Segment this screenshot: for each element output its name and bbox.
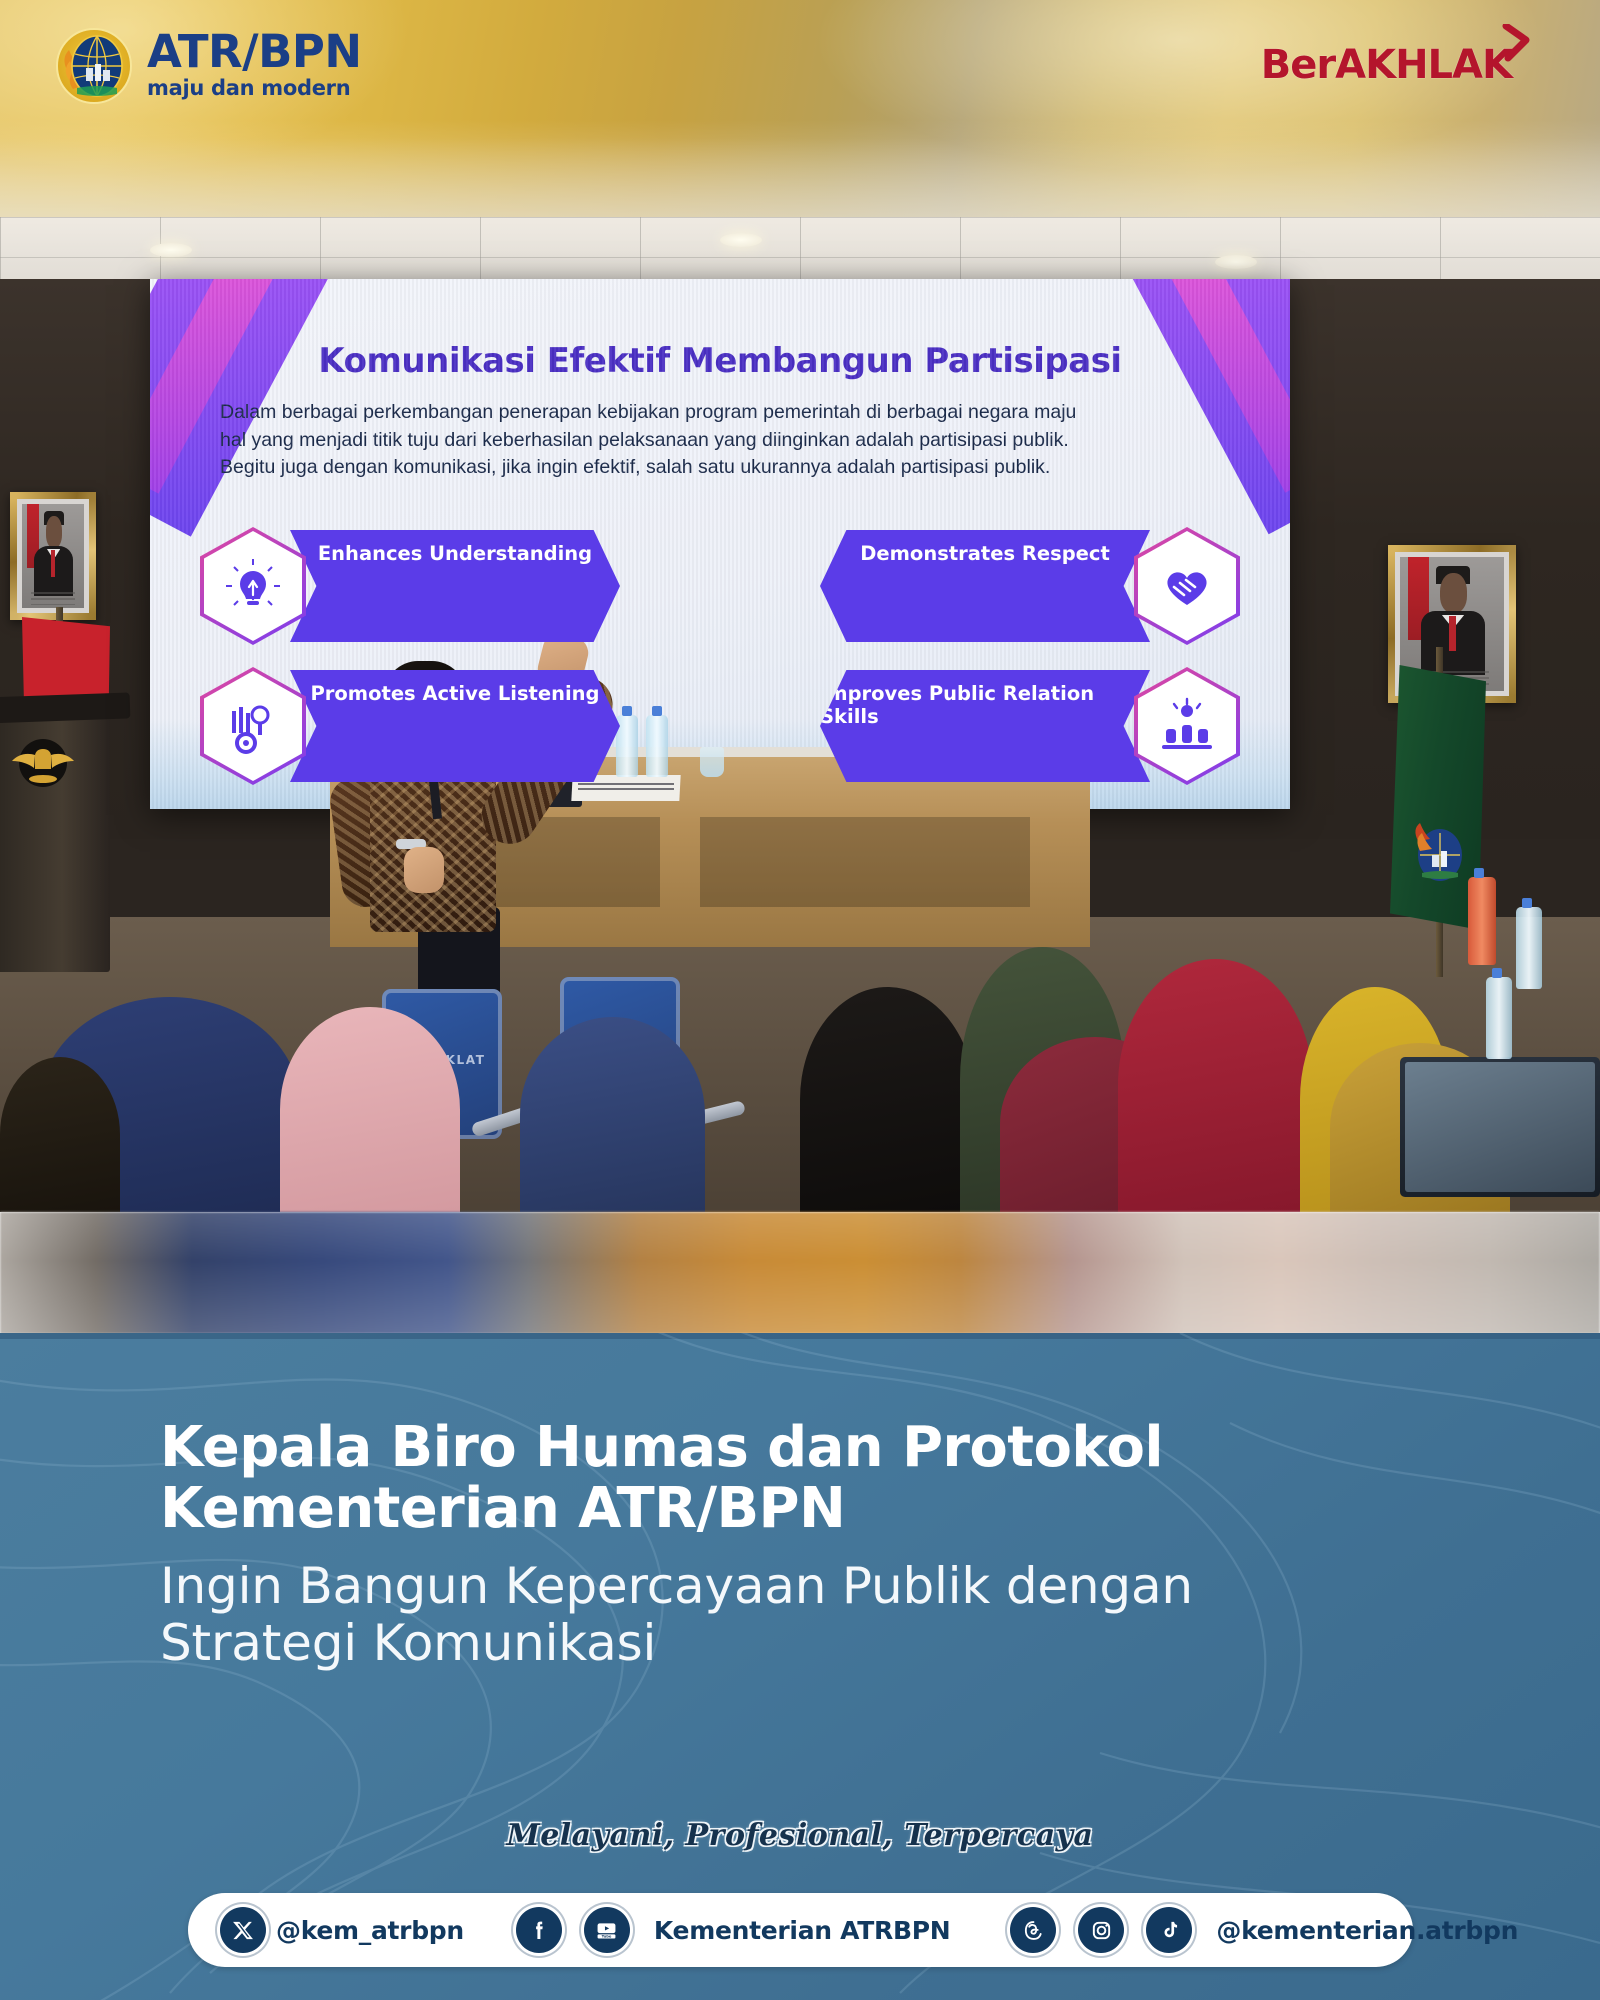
president-portrait-frame — [10, 492, 96, 620]
audience-speaker-icon — [1134, 667, 1240, 785]
thermos-bottle — [1468, 877, 1496, 965]
water-bottle — [1516, 907, 1542, 989]
ceiling-light-icon — [1215, 255, 1257, 269]
youtube-handle[interactable]: Kementerian ATRBPN — [654, 1916, 950, 1945]
social-group-x[interactable]: @kem_atrbpn — [220, 1907, 464, 1953]
berakhlak-swoosh-icon — [1500, 24, 1530, 70]
social-group-facebook[interactable] — [516, 1907, 572, 1953]
page-title-line: Kementerian ATR/BPN — [160, 1478, 1490, 1539]
slide-body-line: Dalam berbagai perkembangan penerapan ke… — [220, 399, 1220, 427]
slide-hex-item: Promotes Active Listening — [200, 667, 620, 785]
social-footer-bar: @kem_atrbpn Tube Kementerian ATRBPN — [188, 1893, 1413, 1967]
brand-title: ATR/BPN — [147, 29, 362, 74]
slide-body-line: Begitu juga dengan komunikasi, jika ingi… — [220, 454, 1220, 482]
x-handle[interactable]: @kem_atrbpn — [276, 1916, 464, 1945]
audience-person — [0, 1057, 120, 1212]
berakhlak-lockup: BerAKHLAK — [1261, 42, 1530, 88]
ceiling-light-icon — [720, 233, 762, 247]
slide-hex-label: Enhances Understanding — [290, 530, 620, 642]
social-group-youtube[interactable]: Tube Kementerian ATRBPN — [584, 1907, 950, 1953]
slide-hex-item: Enhances Understanding — [200, 527, 620, 645]
water-bottle — [616, 715, 638, 777]
svg-text:Tube: Tube — [602, 1934, 612, 1938]
brand-subtitle: maju dan modern — [147, 78, 362, 99]
tagline: Melayani, Profesional, Terpercaya — [0, 1818, 1600, 1853]
handshake-heart-icon — [1134, 527, 1240, 645]
audience-person — [1118, 959, 1313, 1212]
page-subtitle: Ingin Bangun Kepercayaan Publik dengan S… — [160, 1558, 1520, 1672]
page-title: Kepala Biro Humas dan Protokol Kementeri… — [160, 1417, 1490, 1539]
tiktok-handle[interactable]: @kementerian.atrbpn — [1216, 1916, 1518, 1945]
lightbulb-idea-icon — [200, 527, 306, 645]
social-group-tiktok[interactable]: @kementerian.atrbpn — [1146, 1907, 1518, 1953]
ceiling-light-icon — [150, 243, 192, 257]
page-subtitle-line: Strategi Komunikasi — [160, 1615, 1520, 1672]
audience-person — [520, 1017, 705, 1212]
speaker-left-hand — [404, 847, 444, 893]
water-bottle — [646, 715, 668, 777]
page-title-line: Kepala Biro Humas dan Protokol — [160, 1417, 1490, 1478]
slide-hex-label: Promotes Active Listening — [290, 670, 620, 782]
page-subtitle-line: Ingin Bangun Kepercayaan Publik dengan — [160, 1558, 1520, 1615]
water-bottle — [1486, 977, 1512, 1059]
tools-gear-icon — [200, 667, 306, 785]
social-group-threads[interactable] — [1010, 1907, 1066, 1953]
slide-hex-label: Demonstrates Respect — [820, 530, 1150, 642]
slide-body: Dalam berbagai perkembangan penerapan ke… — [220, 399, 1220, 482]
social-group-instagram[interactable] — [1078, 1907, 1134, 1953]
header-fade — [0, 138, 1600, 218]
poster-header: ATR/BPN maju dan modern BerAKHLAK — [0, 0, 1600, 218]
poster-root: ATR/BPN maju dan modern BerAKHLAK — [0, 0, 1600, 2000]
atr-bpn-logo-icon — [55, 24, 133, 108]
slide-hex-label: Improves Public Relation Skills — [820, 670, 1150, 782]
instagram-icon[interactable] — [1078, 1907, 1124, 1953]
slide-title: Komunikasi Efektif Membangun Partisipasi — [150, 341, 1290, 381]
podium-garuda-icon — [8, 737, 78, 789]
desk-panel — [700, 817, 1030, 907]
slide-hex-item: Improves Public Relation Skills — [820, 667, 1240, 785]
slide-hex-item: Demonstrates Respect — [820, 527, 1240, 645]
seminar-photo: Komunikasi Efektif Membangun Partisipasi… — [0, 217, 1600, 1212]
photo-blur-band — [0, 1212, 1600, 1334]
slide-body-line: hal yang menjadi titik tuju dari keberha… — [220, 427, 1220, 455]
audience-person — [280, 1007, 460, 1212]
x-twitter-icon[interactable] — [220, 1907, 266, 1953]
facebook-icon[interactable] — [516, 1907, 562, 1953]
threads-icon[interactable] — [1010, 1907, 1056, 1953]
audience-person — [800, 987, 975, 1212]
name-plate-text — [578, 783, 674, 793]
podium-top — [0, 692, 130, 723]
youtube-icon[interactable]: Tube — [584, 1907, 630, 1953]
brand-lockup: ATR/BPN maju dan modern — [55, 24, 362, 108]
drinking-glass — [700, 747, 724, 777]
presentation-screen: Komunikasi Efektif Membangun Partisipasi… — [150, 279, 1290, 809]
laptop — [1400, 1057, 1600, 1197]
berakhlak-label: BerAKHLAK — [1261, 42, 1512, 88]
tiktok-icon[interactable] — [1146, 1907, 1192, 1953]
slide-hex-row-1: Enhances Understanding Demonstrates Resp… — [200, 527, 1240, 645]
